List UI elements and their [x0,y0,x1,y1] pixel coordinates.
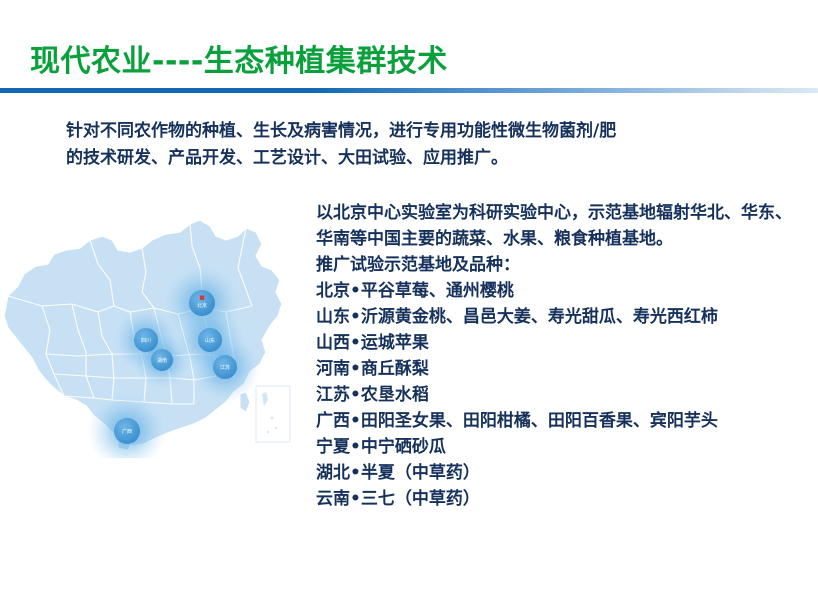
map-marker-shandong[interactable]: 山东 [198,328,222,352]
map-marker-sichuan[interactable]: 四川 [134,328,158,352]
bases-list-heading: 推广试验示范基地及品种： [316,252,804,278]
map-marker-hunan[interactable]: 湖南 [151,349,173,371]
bases-list-item: 河南•商丘酥梨 [316,356,804,382]
china-map-figure: 北京 四川 湖南 山东 [0,188,324,458]
svg-text:山东: 山东 [205,337,215,344]
slide-canvas: 现代农业----生态种植集群技术 针对不同农作物的种植、生长及病害情况，进行专用… [0,0,818,599]
page-title: 现代农业----生态种植集群技术 [30,42,448,82]
bases-list-item: 山东•沂源黄金桃、昌邑大姜、寿光甜瓜、寿光西红柿 [316,304,804,330]
map-inset-box [256,386,290,442]
map-marker-guangxi[interactable]: 广西 [114,418,140,444]
svg-text:四川: 四川 [141,338,151,344]
bases-text-block: 以北京中心实验室为科研实验中心，示范基地辐射华北、华东、华南等中国主要的蔬菜、水… [316,200,804,512]
bases-list-item: 湖北•半夏（中草药） [316,460,804,486]
map-marker-beijing[interactable]: 北京 [189,290,215,316]
bases-list-item: 广西•田阳圣女果、田阳柑橘、田阳百香果、宾阳芋头 [316,408,804,434]
bases-list-item: 宁夏•中宁硒砂瓜 [316,434,804,460]
intro-line-1: 针对不同农作物的种植、生长及病害情况，进行专用功能性微生物菌剂/肥 [66,118,766,145]
intro-paragraph: 针对不同农作物的种植、生长及病害情况，进行专用功能性微生物菌剂/肥 的技术研发、… [66,118,766,172]
bases-list-item: 山西•运城苹果 [316,330,804,356]
title-divider-rule [0,88,818,93]
intro-line-2: 的技术研发、产品开发、工艺设计、大田试验、应用推广。 [66,145,766,172]
bases-list-item: 江苏•农垦水稻 [316,382,804,408]
bases-list-item: 北京•平谷草莓、通州樱桃 [316,278,804,304]
bases-overview: 以北京中心实验室为科研实验中心，示范基地辐射华北、华东、华南等中国主要的蔬菜、水… [316,200,804,252]
svg-text:江苏: 江苏 [220,364,230,371]
svg-text:湖南: 湖南 [157,357,167,364]
svg-text:北京: 北京 [197,302,207,309]
map-marker-jiangsu[interactable]: 江苏 [213,355,237,379]
bases-list-item: 云南•三七（中草药） [316,486,804,512]
svg-text:广西: 广西 [122,428,132,435]
